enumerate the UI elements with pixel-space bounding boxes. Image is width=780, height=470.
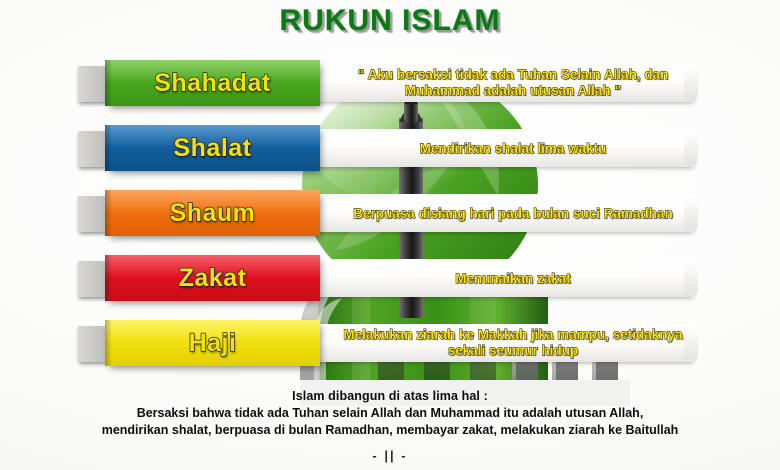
- pillar-row-shalat: Shalat Mendirikan shalat lima waktu: [78, 125, 696, 171]
- page-title: RUKUN ISLAM: [0, 4, 780, 38]
- pillar-tab-shaum[interactable]: Shaum: [105, 190, 320, 236]
- pillar-description: Mendirikan shalat lima waktu: [330, 125, 696, 171]
- footer-line-2: Bersaksi bahwa tidak ada Tuhan selain Al…: [0, 405, 780, 422]
- footer-line-1: Islam dibangun di atas lima hal :: [0, 388, 780, 405]
- pillar-row-haji: Haji Melakukan ziarah ke Makkah jika mam…: [78, 320, 696, 366]
- pillar-tab-zakat[interactable]: Zakat: [105, 255, 320, 301]
- ribbon-fold: [78, 66, 108, 102]
- pillar-tab-shahadat[interactable]: Shahadat: [105, 60, 320, 106]
- pillar-label: Zakat: [179, 264, 247, 293]
- pillar-row-shaum: Shaum Berpuasa disiang hari pada bulan s…: [78, 190, 696, 236]
- footer-text: Islam dibangun di atas lima hal : Bersak…: [0, 388, 780, 439]
- ribbon-fold: [78, 326, 108, 362]
- pillar-label: Shaum: [170, 199, 256, 228]
- pillar-row-shahadat: Shahadat “ Aku bersaksi tidak ada Tuhan …: [78, 60, 696, 106]
- pillar-label: Shahadat: [154, 69, 271, 98]
- pillar-label: Shalat: [173, 134, 251, 163]
- pillar-description: Menunaikan zakat: [330, 255, 696, 301]
- pillar-label: Haji: [189, 329, 237, 358]
- pillar-tab-haji[interactable]: Haji: [105, 320, 320, 366]
- pillar-row-zakat: Zakat Menunaikan zakat: [78, 255, 696, 301]
- pillar-tab-shalat[interactable]: Shalat: [105, 125, 320, 171]
- ribbon-fold: [78, 196, 108, 232]
- ribbon-fold: [78, 261, 108, 297]
- poster-canvas: RUKUN ISLAM Shahadat “ Aku bersaksi tida…: [0, 0, 780, 470]
- pillar-description: Melakukan ziarah ke Makkah jika mampu, s…: [330, 320, 696, 366]
- footer-line-3: mendirikan shalat, berpuasa di bulan Ram…: [0, 422, 780, 439]
- ribbon-fold: [78, 131, 108, 167]
- pillar-description: “ Aku bersaksi tidak ada Tuhan Selain Al…: [330, 60, 696, 106]
- page-mark: - || -: [0, 448, 780, 463]
- pillar-description: Berpuasa disiang hari pada bulan suci Ra…: [330, 190, 696, 236]
